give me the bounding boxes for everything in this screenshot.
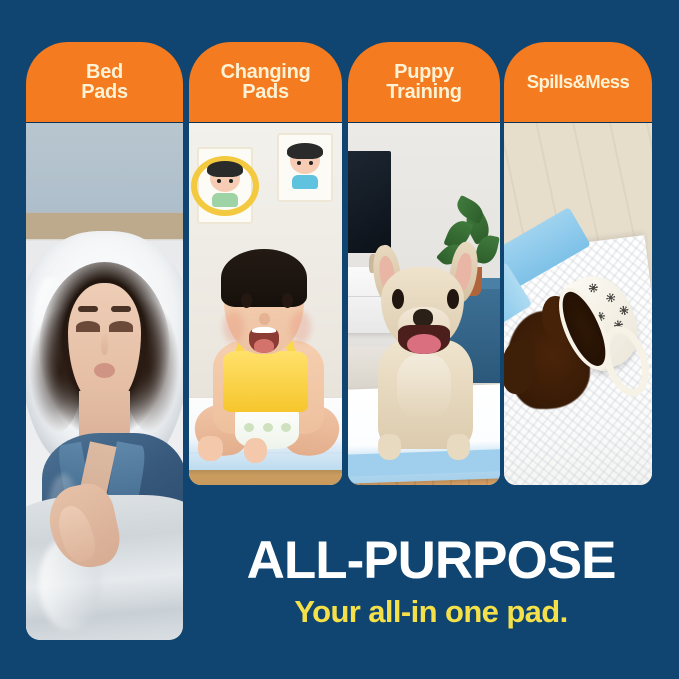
panel-photo-changing-pads [189,122,342,485]
diaper-pattern [244,423,254,433]
poster-character [290,147,320,189]
panel-label: Puppy Training [382,62,465,103]
baby-tongue [254,339,275,353]
panel-photo-bed-pads [26,122,183,640]
footer-text-block: ALL-PURPOSE Your all-in one pad. [196,534,666,627]
coffee-stain-lobe [504,340,534,394]
panel-label: Spills&Mess [523,73,633,92]
panel-photo-puppy-training [348,122,500,485]
poster-eye-right [309,161,313,165]
panel-header-puppy-training: Puppy Training [348,42,500,122]
infographic-canvas: Bed Pads [0,0,679,679]
eye-left [76,321,100,332]
poster-body [212,193,238,207]
dog-eye-right [447,289,459,309]
panel-puppy-training: Puppy Training [348,42,500,485]
yellow-tank-top [223,351,309,413]
eye-right [109,321,133,332]
poster-head [210,165,240,192]
panel-photo-spills-mess [504,122,652,485]
dog-tongue [407,334,440,354]
poster-hair [287,143,323,159]
eyebrow-left [78,306,98,312]
baby-mouth [249,327,280,352]
poster-character [210,165,240,207]
panel-label: Bed Pads [77,62,132,103]
panel-bed-pads: Bed Pads [26,42,183,640]
dog-paw-right [447,434,470,459]
dog-paw-left [378,434,401,459]
television [348,151,391,253]
baby-teeth [252,327,276,333]
panel-header-spills-mess: Spills&Mess [504,42,652,122]
subheadline: Your all-in one pad. [196,596,666,627]
floral-motif [618,304,630,316]
floral-motif [604,292,616,304]
poster-eye-left [297,161,301,165]
panel-changing-pads: Changing Pads [189,42,342,485]
dog-chest [397,354,452,419]
headline: ALL-PURPOSE [196,534,666,587]
floral-motif [587,283,599,295]
nose [101,334,109,355]
panel-header-changing-pads: Changing Pads [189,42,342,122]
baby-foot-right [244,438,267,463]
baby-foot-left [198,436,222,461]
diaper-pattern [281,423,291,433]
cartoon-poster-right [277,133,333,202]
panel-header-bed-pads: Bed Pads [26,42,183,122]
panel-label: Changing Pads [217,62,315,103]
poster-hair [207,161,243,177]
cartoon-poster-left [197,147,253,224]
panel-spills-mess: Spills&Mess [504,42,652,485]
baby-hair [221,249,307,307]
baby-eye-right [282,293,293,308]
poster-head [290,147,320,174]
poster-eye-left [217,179,221,183]
eyebrow-right [111,306,131,312]
poster-eye-right [229,179,233,183]
baby-eye-left [241,293,252,308]
diaper-pattern [263,423,273,433]
poster-body [292,175,318,189]
